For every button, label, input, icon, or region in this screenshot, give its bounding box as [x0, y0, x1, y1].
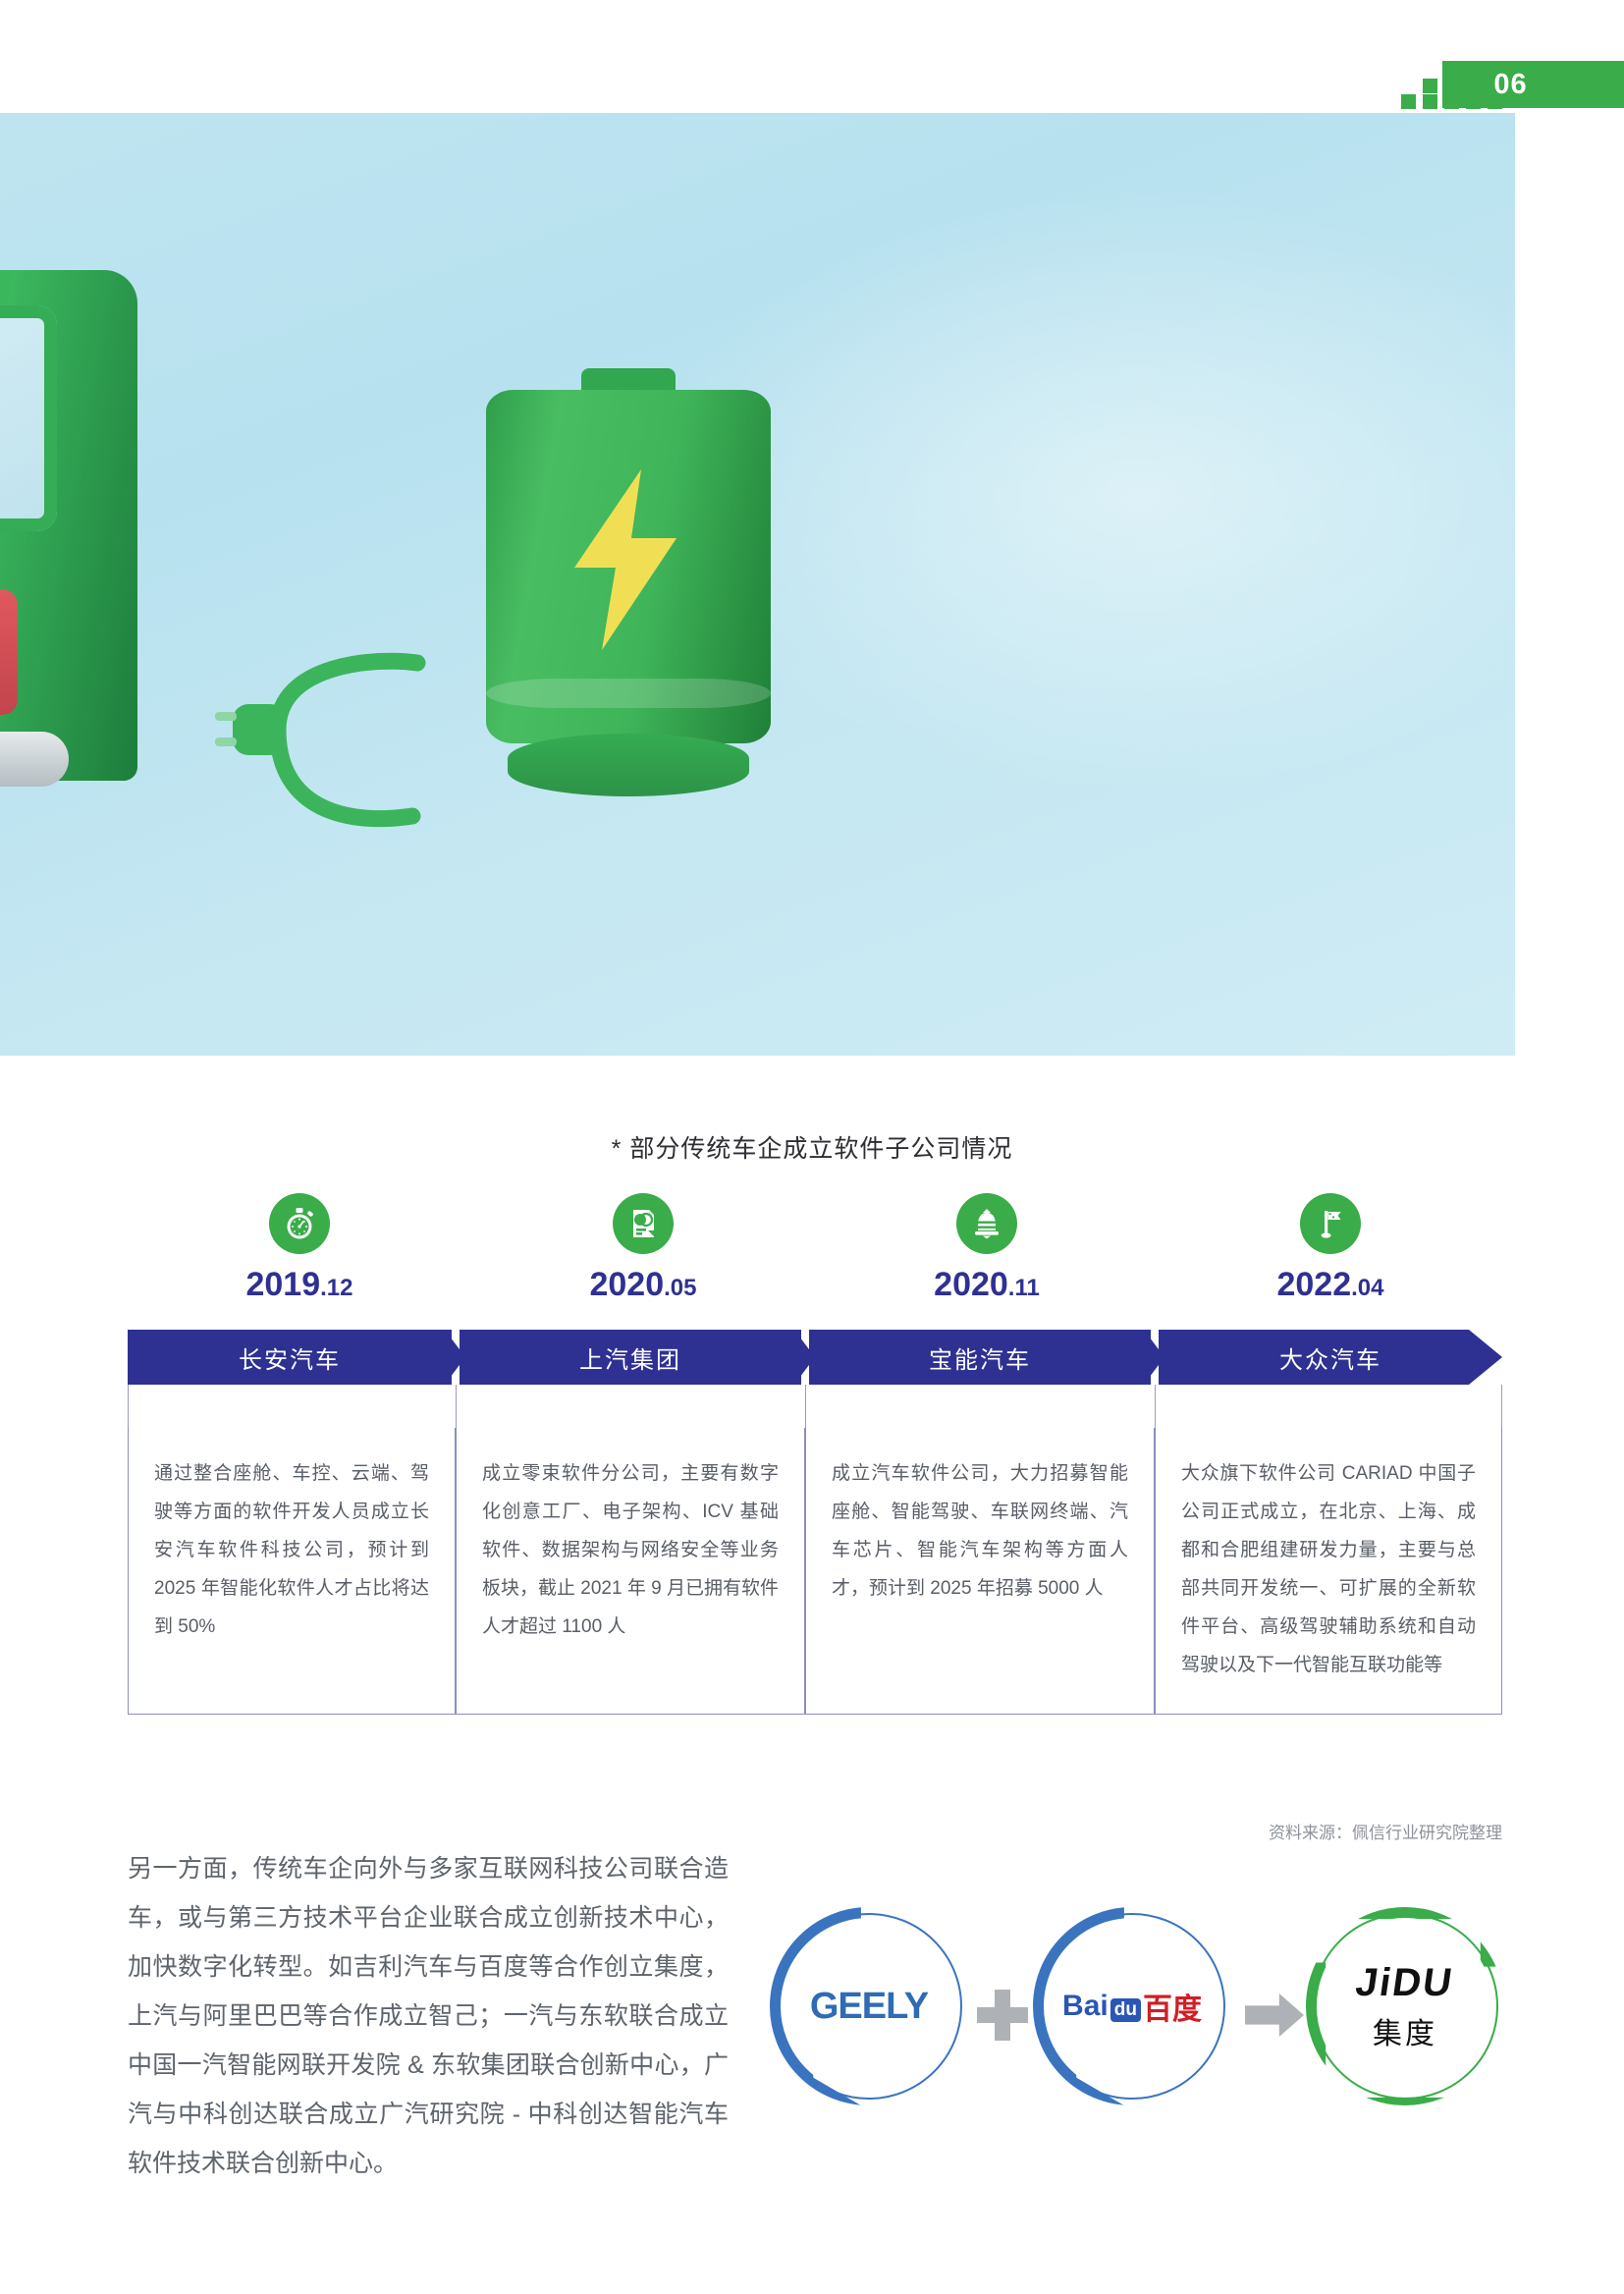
baidu-logo-circle: Bai du 百度 [1039, 1913, 1225, 2100]
connector-ticks [128, 1385, 1502, 1428]
decor-square [1401, 94, 1416, 109]
chevron-company-1[interactable]: 上汽集团 [460, 1330, 801, 1385]
description-box-2: 成立汽车软件公司，大力招募智能座舱、智能驾驶、车联网终端、汽车芯片、智能汽车架构… [805, 1428, 1155, 1715]
green-battery-illustration [486, 368, 771, 830]
timeline-year: 2019 [245, 1266, 320, 1303]
timeline-year: 2020 [934, 1266, 1008, 1303]
connector-tick [1501, 1385, 1502, 1428]
timeline-header-2: 2020.11 [815, 1193, 1159, 1326]
chevron-company-2[interactable]: 宝能汽车 [809, 1330, 1151, 1385]
bell-icon [956, 1193, 1017, 1254]
body-paragraph: 另一方面，传统车企向外与多家互联网科技公司联合造车，或与第三方技术平台企业联合成… [128, 1844, 729, 2188]
chevron-company-0[interactable]: 长安汽车 [128, 1330, 452, 1385]
charging-cable-icon [211, 624, 506, 840]
decor-square [1423, 79, 1437, 93]
baidu-logo-du: du [1110, 1998, 1141, 2022]
van-window [0, 305, 57, 531]
source-attribution: 资料来源：佩信行业研究院整理 [0, 1819, 1502, 1843]
connector-tick [805, 1385, 806, 1428]
stopwatch-icon [269, 1193, 330, 1254]
description-box-0: 通过整合座舱、车控、云端、驾驶等方面的软件开发人员成立长安汽车软件科技公司，预计… [128, 1428, 456, 1715]
jidu-logo-mark: JiDU [1353, 1961, 1456, 2005]
connector-tick [128, 1385, 129, 1428]
battery-base [508, 734, 749, 796]
page-number-marker: 06 [1401, 61, 1624, 108]
connector-tick [456, 1385, 457, 1428]
timeline-header-0: 2019.12 [128, 1193, 471, 1326]
company-chevron-bar: 长安汽车 上汽集团 宝能汽车 大众汽车 [128, 1330, 1502, 1385]
van-taillight [0, 589, 18, 715]
timeline-month: .12 [320, 1275, 352, 1301]
timeline-month: .11 [1008, 1275, 1040, 1301]
arrow-right-icon [1245, 1994, 1304, 2037]
description-boxes: 通过整合座舱、车控、云端、驾驶等方面的软件开发人员成立长安汽车软件科技公司，预计… [128, 1428, 1502, 1715]
timeline-date-2: 2020.11 [934, 1266, 1040, 1304]
timeline-header-3: 2022.04 [1159, 1193, 1502, 1326]
flag-icon [1300, 1193, 1361, 1254]
connector-tick [1155, 1385, 1156, 1428]
timeline-date-3: 2022.04 [1276, 1266, 1383, 1304]
baidu-logo-cn: 百度 [1143, 1985, 1202, 2028]
page-number: 06 [1442, 61, 1624, 108]
geely-logo-text: GEELY [810, 1986, 928, 2028]
timeline-date-0: 2019.12 [245, 1266, 352, 1304]
jidu-logo-cn: 集度 [1373, 2009, 1437, 2052]
section-title: * 部分传统车企成立软件子公司情况 [0, 1129, 1624, 1165]
geely-logo-circle: GEELY [776, 1913, 962, 2100]
timeline-month: .05 [664, 1275, 696, 1301]
baidu-logo-bai: Bai [1062, 1990, 1109, 2023]
baidu-logo: Bai du 百度 [1062, 1985, 1202, 2028]
description-box-3: 大众旗下软件公司 CARIAD 中国子公司正式成立，在北京、上海、成都和合肥组建… [1155, 1428, 1502, 1715]
timeline: 2019.12 2020.05 [128, 1193, 1502, 1715]
hero-image [0, 113, 1515, 1056]
timeline-header-1: 2020.05 [471, 1193, 815, 1326]
timeline-year: 2022 [1276, 1266, 1351, 1303]
timeline-month: .04 [1351, 1275, 1383, 1301]
document-report-icon [613, 1193, 674, 1254]
decor-square [1423, 94, 1437, 109]
page-root: 06 * 部分传统 [0, 0, 1624, 2294]
jidu-logo-circle: JiDU 集度 [1312, 1913, 1498, 2100]
partnership-logo-row: GEELY Bai du 百度 JiDU 集度 [776, 1913, 1502, 2129]
description-box-1: 成立零束软件分公司，主要有数字化创意工厂、电子架构、ICV 基础软件、数据架构与… [456, 1428, 805, 1715]
jidu-logo: JiDU 集度 [1356, 1961, 1453, 2052]
van-bumper [0, 732, 69, 787]
lightning-bolt-icon [555, 462, 702, 658]
timeline-headers: 2019.12 2020.05 [128, 1193, 1502, 1326]
timeline-year: 2020 [589, 1266, 664, 1303]
plug-head [215, 704, 286, 755]
timeline-date-1: 2020.05 [589, 1266, 696, 1304]
chevron-company-3[interactable]: 大众汽车 [1159, 1330, 1502, 1385]
plus-icon [977, 1990, 1028, 2041]
green-van-illustration [0, 270, 167, 820]
battery-ring [486, 679, 771, 708]
